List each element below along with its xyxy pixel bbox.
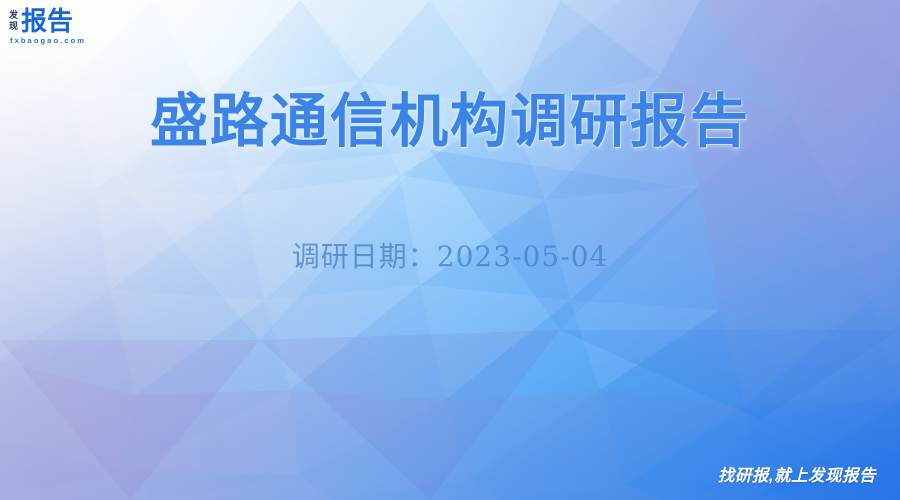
report-cover-slide: 发 现 报告 fxbaogao.com 盛路通信机构调研报告 调研日期：2023… xyxy=(0,0,900,500)
logo-mark-stack: 发 现 xyxy=(9,10,18,32)
logo-wordmark-row: 发 现 报告 xyxy=(9,8,73,34)
fxbaogao-logo[interactable]: 发 现 报告 fxbaogao.com xyxy=(9,8,86,45)
logo-url: fxbaogao.com xyxy=(10,37,86,45)
logo-wordmark: 报告 xyxy=(21,8,73,34)
brand-slogan: 找研报,就上发现报告 xyxy=(718,462,876,486)
logo-mark-top: 发 xyxy=(9,10,18,21)
logo-mark-bottom: 现 xyxy=(9,21,18,32)
survey-date-subtitle: 调研日期：2023-05-04 xyxy=(0,240,900,274)
title-block: 盛路通信机构调研报告 xyxy=(0,88,900,154)
page-title: 盛路通信机构调研报告 xyxy=(0,88,900,154)
